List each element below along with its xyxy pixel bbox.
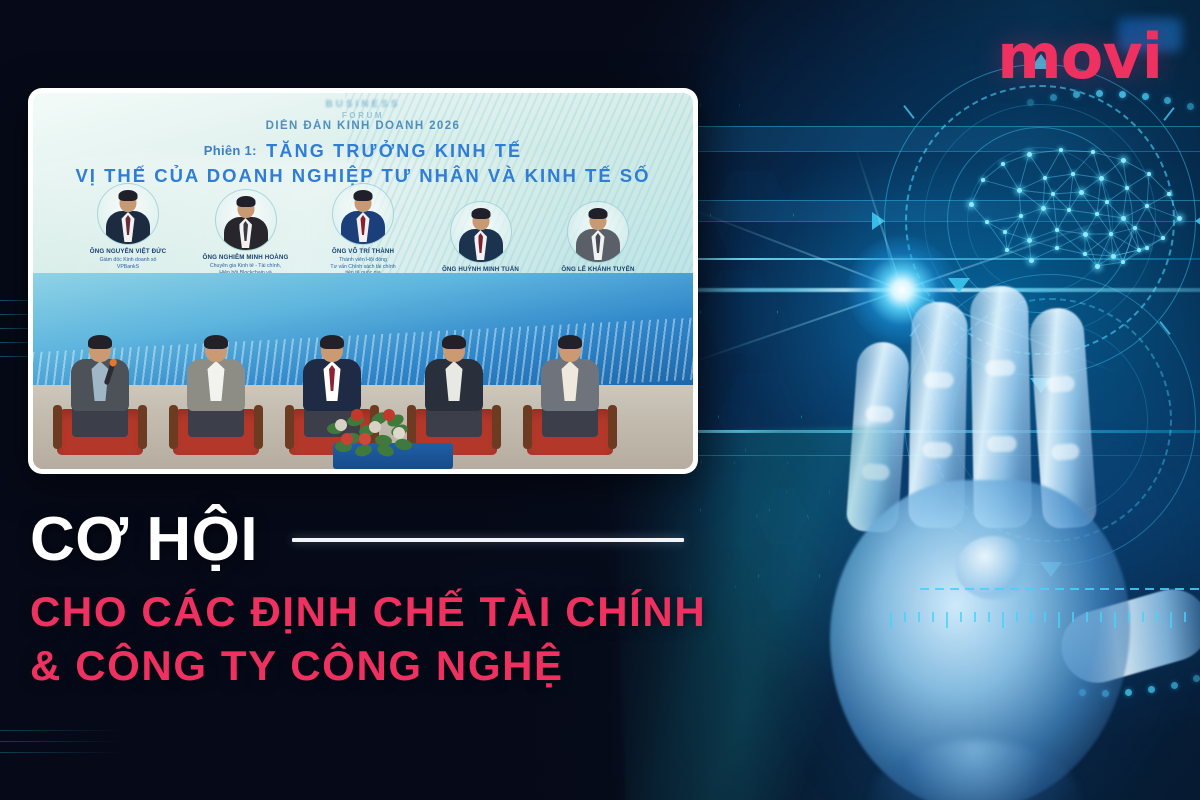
panelist-1 [63,337,137,433]
panel-seat-1 [57,379,143,455]
event-photo: BUSINESS FORUM DIỄN ĐÀN KINH DOANH 2026 … [33,93,693,469]
panel-seat-5 [527,379,613,455]
panel-discussion-photo [33,273,693,469]
forum-logo-forum: FORUM [342,111,384,120]
speaker-name-2: ÔNG NGHIÊM MINH HOÀNG [191,254,301,262]
speaker-name-3: ÔNG VÕ TRÍ THÀNH [308,248,418,256]
panelist-2 [179,337,253,433]
headline-subtitle: CHO CÁC ĐỊNH CHẾ TÀI CHÍNH & CÔNG TY CÔN… [30,585,790,693]
bottom-left-rule-marks [0,730,120,760]
chair-arm-left [53,405,62,449]
chair-arm-right [492,405,501,449]
ai-brain-network-icon [955,128,1200,278]
chair-arm-left [285,405,294,449]
speaker-avatar-5 [567,201,629,263]
headline-main: CƠ HỘI [30,508,258,571]
speaker-card-3: ÔNG VÕ TRÍ THÀNHThành viên Hội đồngTư vấ… [308,183,418,277]
headline-block: CƠ HỘI CHO CÁC ĐỊNH CHẾ TÀI CHÍNH & CÔNG… [30,508,790,693]
panelist-5 [533,337,607,433]
panelist-4 [417,337,491,433]
headline-divider [292,538,684,542]
speaker-name-1: ÔNG NGUYỄN VIỆT ĐỨC [73,248,183,256]
session-title: TĂNG TRƯỞNG KINH TẾ [266,141,522,161]
session-label: Phiên 1: [204,143,257,158]
chair-arm-right [254,405,263,449]
lens-flare [902,290,904,292]
headline-main-row: CƠ HỘI [30,508,790,571]
chair-arm-left [523,405,532,449]
poster-canvas: movi BUSINESS FORUM DIỄN ĐÀN KINH DOANH … [0,0,1200,800]
speaker-card-1: ÔNG NGUYỄN VIỆT ĐỨCGiám đốc Kinh doanh s… [73,183,183,270]
speaker-avatar-4 [450,201,512,263]
speaker-avatar-3 [332,183,394,245]
chair-arm-right [138,405,147,449]
forum-logo: BUSINESS FORUM [33,99,693,120]
headline-sub-line-2: & CÔNG TY CÔNG NGHỆ [30,639,790,693]
forum-subtitle: DIỄN ĐÀN KINH DOANH 2026 [33,120,693,132]
speaker-role-1: Giám đốc Kinh doanh sốVPBankS [73,257,183,271]
speaker-avatar-1 [97,183,159,245]
event-photo-card: BUSINESS FORUM DIỄN ĐÀN KINH DOANH 2026 … [28,88,698,474]
forum-logo-business: BUSINESS [33,99,693,110]
speaker-card-2: ÔNG NGHIÊM MINH HOÀNGChuyên gia Kinh tế … [191,189,301,283]
chair-arm-left [169,405,178,449]
flower-arrangement [325,395,421,461]
movi-logo[interactable]: movi [997,26,1162,88]
session-heading: Phiên 1: TĂNG TRƯỞNG KINH TẾ [33,141,693,162]
headline-sub-line-1: CHO CÁC ĐỊNH CHẾ TÀI CHÍNH [30,585,790,639]
speaker-card-5: ÔNG LÊ KHÁNH TUYÊNPhó TGĐ Mirae Asset [543,201,653,282]
speaker-avatar-2 [215,189,277,251]
panel-seat-2 [173,379,259,455]
chair-arm-right [608,405,617,449]
